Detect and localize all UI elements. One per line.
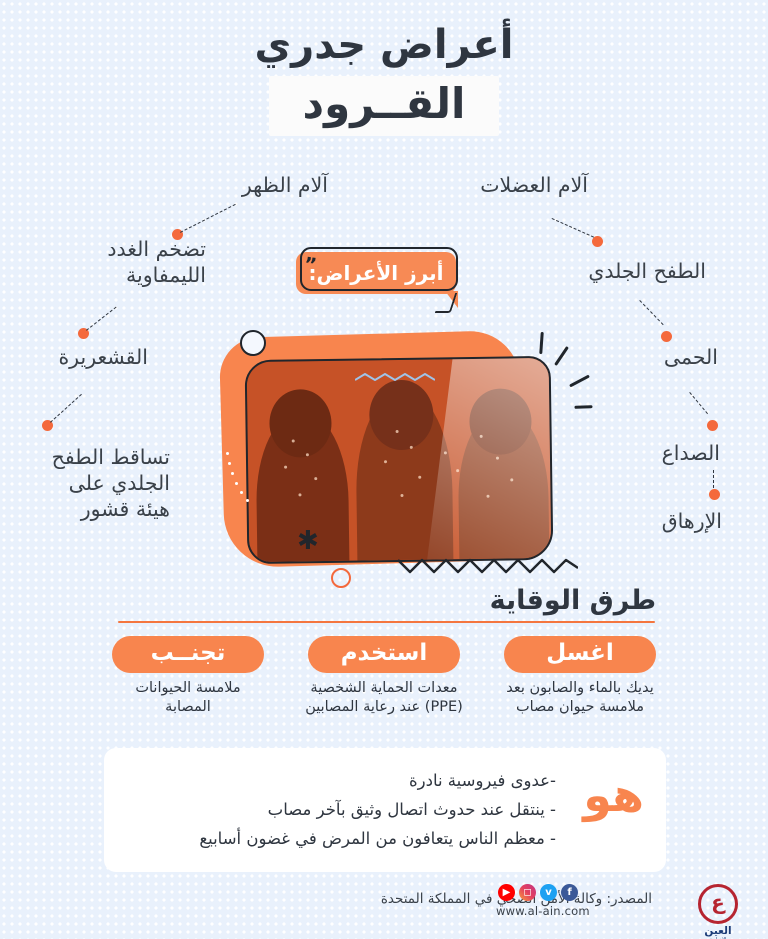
symptom-label-fever: الحمى — [636, 344, 718, 370]
footer-social-block: ▶ ◻ ᴠ f www.al-ain.com — [488, 884, 688, 918]
prevention-desc-wash: يديك بالماء والصابون بعد ملامسة حيوان مص… — [492, 679, 668, 717]
poster-title: أعراض جدري القــرود — [0, 18, 768, 136]
decor-tick-icon — [539, 332, 544, 354]
highlight-speech-bubble: ” أبرز الأعراض: — [296, 252, 456, 294]
prevention-item-avoid: تجنــب ملامسة الحيوانات المصابة — [100, 636, 276, 717]
symptom-label-headache: الصداع — [630, 440, 720, 466]
prevention-desc-use: معدات الحماية الشخصية (PPE) عند رعاية ال… — [296, 679, 472, 717]
prevention-item-wash: اغسل يديك بالماء والصابون بعد ملامسة حيو… — [492, 636, 668, 717]
leader-line — [713, 470, 714, 488]
social-icons-row: ▶ ◻ ᴠ f — [488, 884, 688, 901]
decor-circle-outline-icon — [240, 330, 266, 356]
bubble-tail-outline — [435, 293, 457, 313]
facebook-icon[interactable]: f — [561, 884, 578, 901]
twitter-icon[interactable]: ᴠ — [540, 884, 557, 901]
prevention-item-use: استخدم معدات الحماية الشخصية (PPE) عند ر… — [296, 636, 472, 717]
leader-line — [552, 218, 594, 238]
decor-asterisk-icon: ✱ — [297, 528, 319, 554]
symptom-dot-headache — [709, 489, 720, 500]
decor-tick-icon — [574, 405, 592, 409]
prevention-heading: طرق الوقاية — [490, 585, 656, 616]
prevention-desc-avoid: ملامسة الحيوانات المصابة — [100, 679, 276, 717]
youtube-icon[interactable]: ▶ — [498, 884, 515, 901]
symptom-dot-skin-rash — [661, 331, 672, 342]
orange-blob-shape — [219, 330, 525, 568]
symptom-label-skin-rash: الطفح الجلدي — [560, 258, 706, 284]
prevention-underline — [118, 621, 655, 623]
logo-mark-icon: ع — [698, 884, 738, 924]
al-ain-logo[interactable]: ع العين الإخبارية — [690, 884, 746, 939]
symptom-label-fatigue: الإرهاق — [626, 508, 722, 534]
decor-tick-icon — [569, 375, 590, 388]
title-highlight-box: القــرود — [269, 76, 500, 136]
monkeypox-photo — [247, 358, 552, 562]
leader-line — [639, 300, 663, 325]
symptom-dot-fever — [707, 420, 718, 431]
info-line-list: -عدوى فيروسية نادرة - ينتقل عند حدوث اتص… — [136, 766, 556, 853]
monkeypox-photo-frame — [245, 356, 554, 564]
info-keyword: هو — [583, 770, 644, 820]
symptom-label-chills: القشعريرة — [28, 344, 148, 370]
logo-name: العين — [690, 925, 746, 937]
prevention-columns: تجنــب ملامسة الحيوانات المصابة استخدم م… — [100, 636, 668, 717]
decor-zigzag-icon — [398, 556, 578, 576]
info-line: - معظم الناس يتعافون من المرض في غضون أس… — [136, 824, 556, 853]
symptom-label-back-pain: آلام الظهر — [218, 172, 328, 198]
symptom-label-muscle-pain: آلام العضلات — [456, 172, 588, 198]
bubble-label: أبرز الأعراض: — [296, 252, 456, 294]
leader-line — [689, 392, 708, 414]
leader-line — [86, 307, 117, 331]
decor-tick-icon — [554, 346, 569, 366]
instagram-icon[interactable]: ◻ — [519, 884, 536, 901]
decor-circle-orange-icon — [331, 568, 351, 588]
symptom-dot-muscle-pain — [592, 236, 603, 247]
symptom-label-swollen-lymph: تضخم الغدد الليمفاوية — [64, 236, 206, 288]
title-line-2: القــرود — [303, 78, 466, 130]
symptom-label-rash-scabs: تساقط الطفح الجلدي على هيئة قشور — [32, 444, 170, 522]
leader-line — [180, 204, 236, 233]
prevention-pill-use: استخدم — [308, 636, 460, 673]
prevention-pill-avoid: تجنــب — [112, 636, 264, 673]
title-line-1: أعراض جدري — [0, 18, 768, 72]
info-line: -عدوى فيروسية نادرة — [136, 766, 556, 795]
leader-line — [50, 394, 82, 423]
website-url[interactable]: www.al-ain.com — [488, 904, 688, 918]
bubble-quote-icon: ” — [302, 253, 317, 277]
info-box: هو -عدوى فيروسية نادرة - ينتقل عند حدوث … — [104, 748, 666, 872]
decor-zigzag-small-icon — [355, 372, 435, 384]
info-line: - ينتقل عند حدوث اتصال وثيق بآخر مصاب — [136, 795, 556, 824]
photo-glare — [426, 356, 553, 564]
prevention-pill-wash: اغسل — [504, 636, 656, 673]
infographic-poster: أعراض جدري القــرود — [0, 0, 768, 939]
